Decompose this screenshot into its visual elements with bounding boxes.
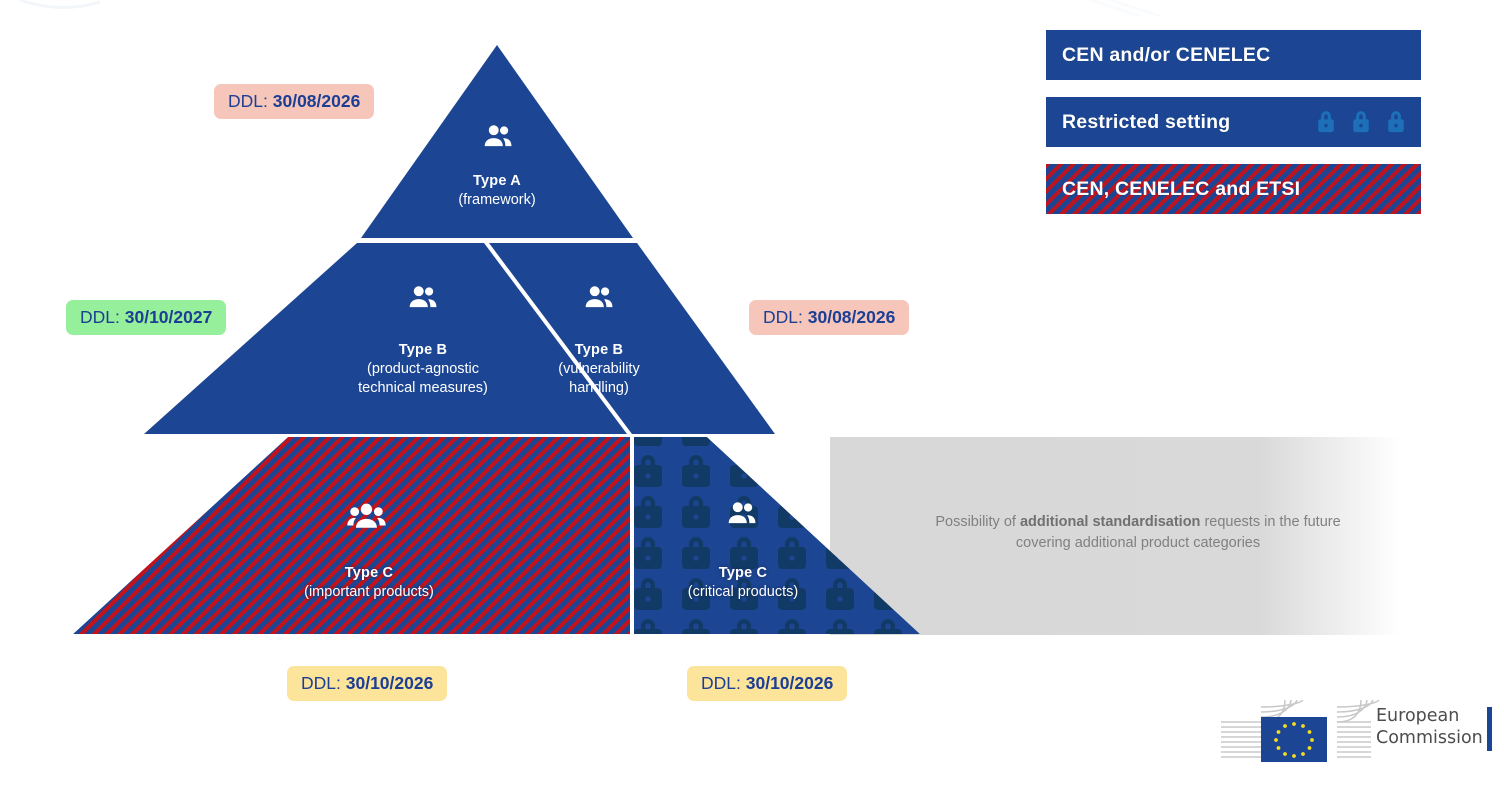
lock-icon <box>1315 109 1337 135</box>
logo-accent-bar <box>1487 707 1492 751</box>
people-group-icon <box>345 500 389 534</box>
note-line-2: covering additional product categories <box>1016 535 1260 551</box>
future-standardisation-note: Possibility of additional standardisatio… <box>878 512 1398 554</box>
org-line-2: Commission <box>1376 727 1483 749</box>
org-line-1: European <box>1376 705 1483 727</box>
slide-canvas: Possibility of additional standardisatio… <box>0 0 1504 788</box>
ddl-badge-type-b-product-agnostic[interactable]: DDL: 30/10/2027 <box>66 300 226 335</box>
note-line-1: Possibility of additional standardisatio… <box>935 514 1340 530</box>
legend-item-cen-cenelec[interactable]: CEN and/or CENELEC <box>1046 30 1421 80</box>
pyramid-segment-type-c-important[interactable] <box>73 437 630 634</box>
people-pair-icon <box>479 120 517 154</box>
logo-flourish-right <box>1337 700 1379 757</box>
legend: CEN and/or CENELEC Restricted setting <box>1046 30 1421 231</box>
lock-icon <box>1350 109 1372 135</box>
legend-lock-icons <box>1315 109 1407 135</box>
people-pair-icon <box>723 497 761 531</box>
lock-icon <box>1385 109 1407 135</box>
ddl-badge-type-b-vulnerability[interactable]: DDL: 30/08/2026 <box>749 300 909 335</box>
people-pair-icon <box>404 281 442 315</box>
european-commission-wordmark: European Commission <box>1376 705 1483 749</box>
legend-item-restricted-setting[interactable]: Restricted setting <box>1046 97 1421 147</box>
people-pair-icon <box>580 281 618 315</box>
legend-item-cen-cenelec-etsi[interactable]: CEN, CENELEC and ETSI <box>1046 164 1421 214</box>
ddl-badge-type-a[interactable]: DDL: 30/08/2026 <box>214 84 374 119</box>
ddl-badge-type-c-important[interactable]: DDL: 30/10/2026 <box>287 666 447 701</box>
ddl-badge-type-c-critical[interactable]: DDL: 30/10/2026 <box>687 666 847 701</box>
